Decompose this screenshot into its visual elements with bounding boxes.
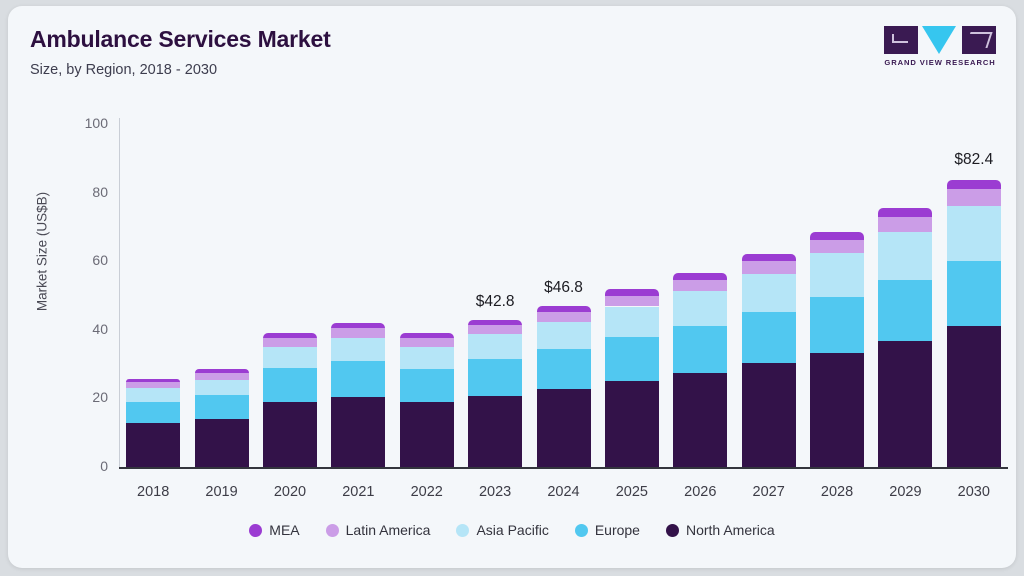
x-axis-tick-2024: 2024 xyxy=(547,484,579,500)
bar-segment-asia-pacific[interactable] xyxy=(673,291,727,325)
x-axis-tick-2022: 2022 xyxy=(411,484,443,500)
bar-segment-mea[interactable] xyxy=(126,379,180,382)
bar-segment-latin-america[interactable] xyxy=(126,382,180,389)
bar-segment-north-america[interactable] xyxy=(742,363,796,467)
value-label-2024: $46.8 xyxy=(544,279,583,297)
bar-segment-latin-america[interactable] xyxy=(537,312,591,322)
x-axis-tick-2021: 2021 xyxy=(342,484,374,500)
stacked-bar-chart: Market Size (US$B) 020406080100201820192… xyxy=(8,6,1016,568)
bar-2030[interactable]: 2030$82.4 xyxy=(947,178,1001,467)
legend-swatch-icon xyxy=(456,524,469,537)
bar-segment-latin-america[interactable] xyxy=(742,261,796,274)
y-axis-tick-40: 40 xyxy=(62,321,108,337)
bar-segment-asia-pacific[interactable] xyxy=(263,347,317,368)
legend-item-label: MEA xyxy=(269,522,299,538)
bar-segment-europe[interactable] xyxy=(263,368,317,402)
bar-segment-europe[interactable] xyxy=(195,395,249,420)
bar-2022[interactable]: 2022 xyxy=(400,333,454,467)
bar-segment-asia-pacific[interactable] xyxy=(947,206,1001,261)
bar-segment-mea[interactable] xyxy=(331,323,385,328)
bar-2029[interactable]: 2029 xyxy=(878,208,932,467)
bar-segment-europe[interactable] xyxy=(810,297,864,353)
value-label-2023: $42.8 xyxy=(476,293,515,311)
bar-segment-asia-pacific[interactable] xyxy=(810,253,864,296)
legend-swatch-icon xyxy=(249,524,262,537)
bar-segment-mea[interactable] xyxy=(673,273,727,280)
y-axis-tick-100: 100 xyxy=(62,115,108,131)
bar-segment-europe[interactable] xyxy=(605,337,659,381)
legend-item-label: North America xyxy=(686,522,775,538)
bar-segment-mea[interactable] xyxy=(605,289,659,295)
bar-segment-europe[interactable] xyxy=(468,359,522,396)
bar-segment-asia-pacific[interactable] xyxy=(605,307,659,338)
bar-2028[interactable]: 2028 xyxy=(810,232,864,467)
value-label-2030: $82.4 xyxy=(954,151,993,169)
bar-segment-north-america[interactable] xyxy=(810,353,864,467)
bar-2018[interactable]: 2018 xyxy=(126,379,180,467)
bar-segment-mea[interactable] xyxy=(263,333,317,338)
bar-segment-asia-pacific[interactable] xyxy=(331,338,385,361)
legend-item-label: Europe xyxy=(595,522,640,538)
legend-item-label: Latin America xyxy=(346,522,431,538)
bar-segment-latin-america[interactable] xyxy=(878,217,932,232)
legend-item-north-america[interactable]: North America xyxy=(666,522,775,538)
bar-segment-latin-america[interactable] xyxy=(673,280,727,292)
bar-2019[interactable]: 2019 xyxy=(195,369,249,467)
bar-segment-north-america[interactable] xyxy=(537,389,591,467)
bar-segment-europe[interactable] xyxy=(126,402,180,423)
bar-segment-north-america[interactable] xyxy=(126,423,180,467)
bar-segment-europe[interactable] xyxy=(673,326,727,373)
bar-2027[interactable]: 2027 xyxy=(742,254,796,467)
y-axis-label: Market Size (US$B) xyxy=(35,172,50,332)
y-axis-line xyxy=(119,118,120,467)
x-axis-tick-2019: 2019 xyxy=(205,484,237,500)
x-axis-tick-2027: 2027 xyxy=(753,484,785,500)
chart-card: Ambulance Services Market Size, by Regio… xyxy=(8,6,1016,568)
bar-segment-mea[interactable] xyxy=(468,320,522,325)
legend-item-asia-pacific[interactable]: Asia Pacific xyxy=(456,522,548,538)
bar-segment-europe[interactable] xyxy=(400,369,454,403)
bar-segment-europe[interactable] xyxy=(742,312,796,363)
bar-segment-north-america[interactable] xyxy=(400,402,454,467)
bar-segment-mea[interactable] xyxy=(878,208,932,217)
x-axis-tick-2018: 2018 xyxy=(137,484,169,500)
bar-2026[interactable]: 2026 xyxy=(673,273,727,467)
bar-segment-europe[interactable] xyxy=(537,349,591,389)
legend-item-latin-america[interactable]: Latin America xyxy=(326,522,431,538)
bar-segment-asia-pacific[interactable] xyxy=(878,232,932,280)
chart-legend: MEALatin AmericaAsia PacificEuropeNorth … xyxy=(8,522,1016,538)
bar-2021[interactable]: 2021 xyxy=(331,323,385,467)
bar-2024[interactable]: 2024$46.8 xyxy=(537,306,591,467)
bar-segment-europe[interactable] xyxy=(947,261,1001,327)
bar-2025[interactable]: 2025 xyxy=(605,289,659,467)
bar-segment-mea[interactable] xyxy=(947,180,1001,189)
legend-item-mea[interactable]: MEA xyxy=(249,522,299,538)
legend-item-label: Asia Pacific xyxy=(476,522,548,538)
bar-segment-latin-america[interactable] xyxy=(605,296,659,307)
bar-2020[interactable]: 2020 xyxy=(263,333,317,467)
bar-segment-mea[interactable] xyxy=(742,254,796,261)
x-axis-tick-2029: 2029 xyxy=(889,484,921,500)
bar-2023[interactable]: 2023$42.8 xyxy=(468,320,522,467)
bar-segment-asia-pacific[interactable] xyxy=(195,380,249,395)
bar-segment-north-america[interactable] xyxy=(878,341,932,467)
y-axis-tick-0: 0 xyxy=(62,458,108,474)
bar-segment-mea[interactable] xyxy=(810,232,864,240)
y-axis-tick-80: 80 xyxy=(62,184,108,200)
bar-segment-asia-pacific[interactable] xyxy=(537,322,591,349)
x-axis-tick-2023: 2023 xyxy=(479,484,511,500)
legend-swatch-icon xyxy=(326,524,339,537)
legend-item-europe[interactable]: Europe xyxy=(575,522,640,538)
x-axis-tick-2030: 2030 xyxy=(958,484,990,500)
bar-segment-north-america[interactable] xyxy=(331,397,385,467)
bar-segment-latin-america[interactable] xyxy=(331,328,385,337)
bar-segment-europe[interactable] xyxy=(878,280,932,341)
bar-segment-latin-america[interactable] xyxy=(947,189,1001,205)
bar-segment-asia-pacific[interactable] xyxy=(742,274,796,312)
bar-segment-asia-pacific[interactable] xyxy=(126,388,180,401)
y-axis-tick-60: 60 xyxy=(62,252,108,268)
x-axis-tick-2020: 2020 xyxy=(274,484,306,500)
bar-segment-latin-america[interactable] xyxy=(263,338,317,347)
x-axis-tick-2025: 2025 xyxy=(616,484,648,500)
bar-segment-north-america[interactable] xyxy=(263,402,317,467)
bar-segment-north-america[interactable] xyxy=(947,326,1001,467)
bar-segment-mea[interactable] xyxy=(400,333,454,338)
bar-segment-asia-pacific[interactable] xyxy=(400,347,454,369)
bar-segment-latin-america[interactable] xyxy=(468,325,522,334)
bar-segment-north-america[interactable] xyxy=(673,373,727,467)
bar-segment-latin-america[interactable] xyxy=(195,373,249,380)
bar-segment-asia-pacific[interactable] xyxy=(468,334,522,358)
bar-segment-mea[interactable] xyxy=(537,306,591,312)
legend-swatch-icon xyxy=(666,524,679,537)
bar-segment-north-america[interactable] xyxy=(468,396,522,467)
bar-segment-mea[interactable] xyxy=(195,369,249,373)
bar-segment-latin-america[interactable] xyxy=(400,338,454,347)
y-axis-tick-20: 20 xyxy=(62,389,108,405)
x-axis-tick-2028: 2028 xyxy=(821,484,853,500)
bar-segment-latin-america[interactable] xyxy=(810,240,864,254)
x-axis-tick-2026: 2026 xyxy=(684,484,716,500)
bar-segment-north-america[interactable] xyxy=(195,419,249,467)
bar-segment-europe[interactable] xyxy=(331,361,385,397)
legend-swatch-icon xyxy=(575,524,588,537)
x-axis-line xyxy=(119,467,1008,469)
bar-segment-north-america[interactable] xyxy=(605,381,659,467)
